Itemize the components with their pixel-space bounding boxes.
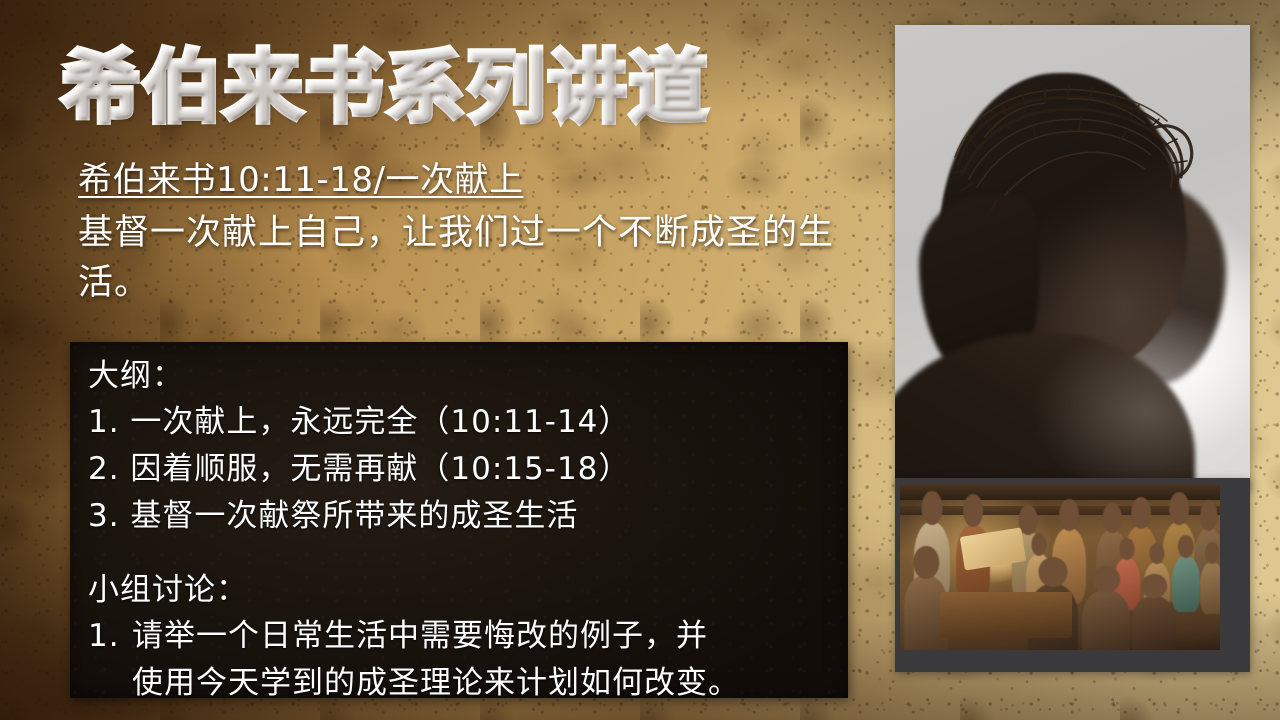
lectern-table <box>940 592 1072 638</box>
jesus-crown-of-thorns-image <box>895 25 1250 490</box>
figure-foreground-3 <box>1132 596 1176 650</box>
outline-item-2: 2. 因着顺服，无需再献（10:15-18） <box>88 446 836 493</box>
discussion-heading: 小组讨论： <box>88 568 836 613</box>
content-panel-inner: 大纲： 1. 一次献上，永远完全（10:11-14） 2. 因着顺服，无需再献（… <box>88 354 836 707</box>
slide-summary-text: 基督一次献上自己，让我们过一个不断成圣的生活。 <box>78 208 868 308</box>
slide-title: 希伯来书系列讲道 <box>62 36 862 141</box>
discussion-item-1-number: 1. <box>88 613 132 660</box>
outline-list: 1. 一次献上，永远完全（10:11-14） 2. 因着顺服，无需再献（10:1… <box>88 399 836 540</box>
content-panel: 大纲： 1. 一次献上，永远完全（10:11-14） 2. 因着顺服，无需再献（… <box>70 342 848 698</box>
assembly-image-frame <box>895 478 1250 672</box>
discussion-item-1-text: 请举一个日常生活中需要悔改的例子，并 <box>132 613 836 660</box>
section-spacer <box>88 540 836 568</box>
discussion-item-1: 1. 请举一个日常生活中需要悔改的例子，并 <box>88 613 836 660</box>
crown-of-thorns <box>947 77 1195 227</box>
figure-seated-5 <box>1200 562 1220 614</box>
biblical-assembly-image <box>900 484 1220 650</box>
figure-seated-4 <box>1172 556 1200 612</box>
discussion-indent-spacer <box>88 660 132 707</box>
outline-heading: 大纲： <box>88 354 836 399</box>
outline-item-3: 3. 基督一次献祭所带来的成圣生活 <box>88 493 836 540</box>
figure-foreground-2 <box>1082 590 1130 650</box>
discussion-item-1-continued: 使用今天学到的成圣理论来计划如何改变。 <box>88 660 836 707</box>
scripture-reference: 希伯来书10:11-18/一次献上 <box>78 158 523 202</box>
presentation-slide: 希伯来书系列讲道 希伯来书10:11-18/一次献上 基督一次献上自己，让我们过… <box>0 0 1280 720</box>
discussion-item-1-line1: 请举一个日常生活中需要悔改的例子，并 <box>132 618 708 654</box>
outline-item-1: 1. 一次献上，永远完全（10:11-14） <box>88 399 836 446</box>
discussion-item-1-line2: 使用今天学到的成圣理论来计划如何改变。 <box>132 660 836 707</box>
